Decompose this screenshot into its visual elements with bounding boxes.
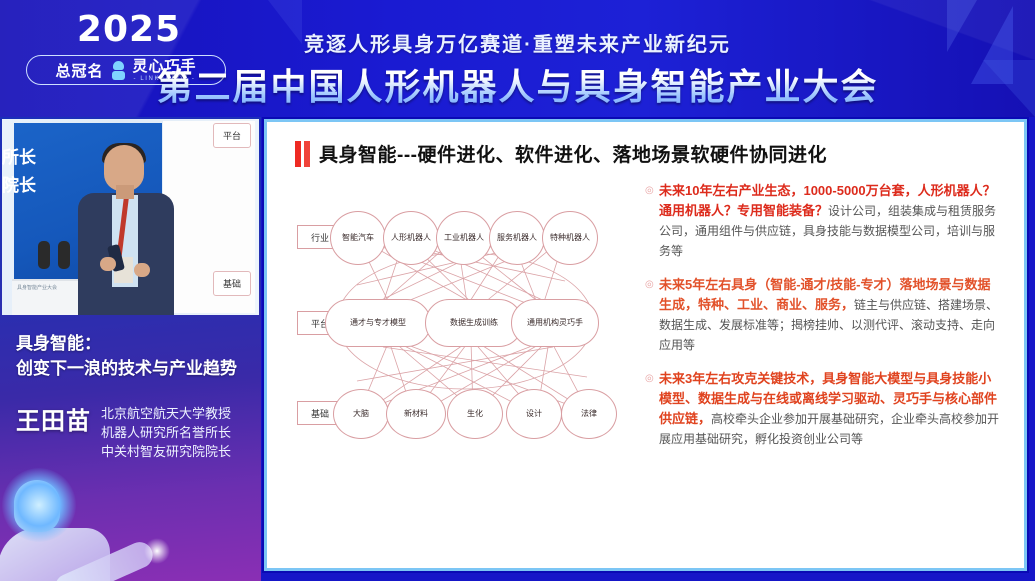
bullet-marker-icon: ◎ — [645, 369, 659, 449]
ecosystem-diagram: 行业 平台 基础 智能汽车 人形机器人 工业机器人 服务机器人 特种机器人 通才… — [297, 181, 627, 471]
banner-title: 第二届中国人形机器人与具身智能产业大会 — [0, 58, 1035, 110]
broadcast-stage: 2025 总冠名 灵心巧手 - LINKERBOT - 竞逐人形具身万亿赛道·重… — [0, 0, 1035, 581]
backdrop-text-1: 所长 — [2, 143, 36, 168]
bullet-item: ◎ 未来3年左右攻克关键技术，具身智能大模型与具身技能小模型、数据生成与在线或离… — [645, 369, 1000, 449]
left-panel: 所长 院长 平台 基础 具身智能产业大会 — [0, 117, 261, 581]
speaker-title-2: 机器人研究所名誉所长 — [101, 423, 231, 442]
node-base-0: 大脑 — [333, 389, 389, 439]
speaker-title-3: 中关村智友研究院院长 — [101, 442, 231, 461]
title-accent-bars-icon — [295, 141, 310, 167]
speaker-titles: 北京航空航天大学教授 机器人研究所名誉所长 中关村智友研究院院长 — [101, 401, 231, 461]
bullet-item: ◎ 未来10年左右产业生态，1000-5000万台套，人形机器人？通用机器人？专… — [645, 181, 1000, 261]
stage-tag-base: 基础 — [213, 271, 251, 296]
backdrop-text-2: 院长 — [2, 171, 36, 196]
node-base-1: 新材料 — [386, 389, 446, 439]
bullet-marker-icon: ◎ — [645, 275, 659, 355]
presentation-slide: 具身智能---硬件进化、软件进化、落地场景软硬件协同进化 — [264, 119, 1027, 571]
node-base-4: 法律 — [561, 389, 617, 439]
node-industry-2: 工业机器人 — [436, 211, 492, 265]
node-base-3: 设计 — [506, 389, 562, 439]
robot-decoration-icon — [0, 462, 146, 581]
slide-title-row: 具身智能---硬件进化、软件进化、落地场景软硬件协同进化 — [295, 140, 1006, 167]
slide-bullet-list: ◎ 未来10年左右产业生态，1000-5000万台套，人形机器人？通用机器人？专… — [627, 181, 1006, 471]
node-industry-0: 智能汽车 — [330, 211, 386, 265]
node-platform-2: 通用机构灵巧手 — [511, 299, 599, 347]
bullet-marker-icon: ◎ — [645, 181, 659, 261]
bullet-text: 未来3年左右攻克关键技术，具身智能大模型与具身技能小模型、数据生成与在线或离线学… — [659, 369, 1000, 449]
bullet-item: ◎ 未来5年左右具身（智能-通才/技能-专才）落地场景与数据生成，特种、工业、商… — [645, 275, 1000, 355]
speaker-name: 王田苗 — [16, 401, 91, 436]
talk-title-line-1: 具身智能： — [16, 331, 245, 356]
node-base-2: 生化 — [447, 389, 503, 439]
slide-title: 具身智能---硬件进化、软件进化、落地场景软硬件协同进化 — [319, 140, 827, 167]
talk-title-line-2: 创变下一浪的技术与产业趋势 — [16, 356, 245, 381]
speaker-figure — [74, 145, 180, 315]
banner-subtitle: 竞逐人形具身万亿赛道·重塑未来产业新纪元 — [0, 28, 1035, 57]
conference-banner: 2025 总冠名 灵心巧手 - LINKERBOT - 竞逐人形具身万亿赛道·重… — [0, 0, 1035, 117]
node-platform-1: 数据生成训练 — [425, 299, 523, 347]
speaker-video-feed[interactable]: 所长 院长 平台 基础 具身智能产业大会 — [2, 119, 259, 315]
node-industry-3: 服务机器人 — [489, 211, 545, 265]
stage-tag-platform: 平台 — [213, 123, 251, 148]
node-platform-0: 通才与专才模型 — [325, 299, 431, 347]
bullet-text: 未来5年左右具身（智能-通才/技能-专才）落地场景与数据生成，特种、工业、商业、… — [659, 275, 1000, 355]
node-industry-1: 人形机器人 — [383, 211, 439, 265]
speaker-info-panel: 具身智能： 创变下一浪的技术与产业趋势 王田苗 北京航空航天大学教授 机器人研究… — [0, 317, 261, 477]
speaker-title-1: 北京航空航天大学教授 — [101, 404, 231, 423]
bullet-text: 未来10年左右产业生态，1000-5000万台套，人形机器人？通用机器人？专用智… — [659, 181, 1000, 261]
node-industry-4: 特种机器人 — [542, 211, 598, 265]
speaker-row: 王田苗 北京航空航天大学教授 机器人研究所名誉所长 中关村智友研究院院长 — [16, 401, 245, 461]
